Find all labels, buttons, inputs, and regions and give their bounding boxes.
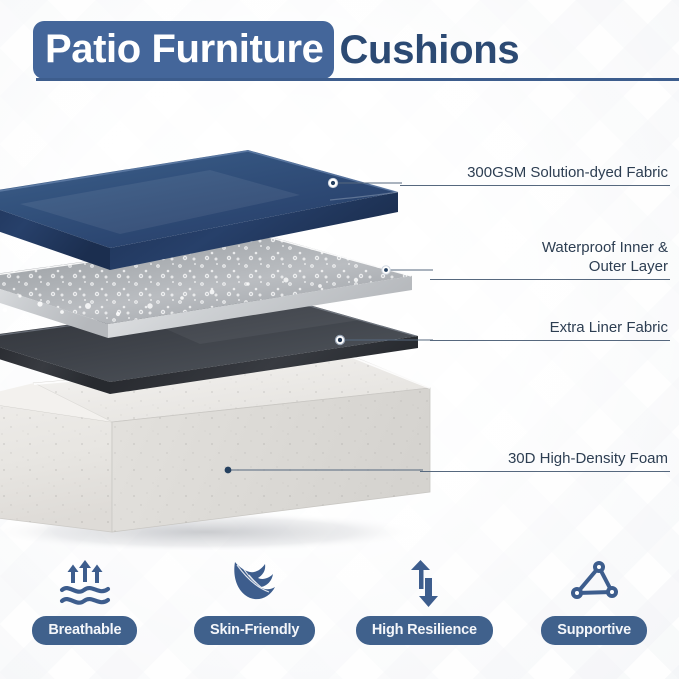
feature-breathable-label: Breathable bbox=[32, 616, 137, 645]
callout-waterproof-label: Waterproof Inner & Outer Layer bbox=[430, 238, 670, 276]
header: Patio Furniture Cushions bbox=[0, 0, 679, 92]
page-title: Patio Furniture Cushions bbox=[33, 21, 519, 79]
title-underline-rule bbox=[36, 78, 679, 81]
callout-liner-rule bbox=[430, 340, 670, 341]
feature-supportive-label: Supportive bbox=[541, 616, 647, 645]
feature-supportive: Supportive bbox=[509, 558, 679, 645]
feature-high-resilience-label: High Resilience bbox=[356, 616, 493, 645]
callout-fabric-rule bbox=[400, 185, 670, 186]
triangle-nodes-icon bbox=[568, 558, 620, 610]
feature-skin-friendly: Skin-Friendly bbox=[170, 558, 340, 645]
high-density-foam-block bbox=[0, 356, 430, 532]
callout-foam: 30D High-Density Foam bbox=[420, 449, 670, 472]
title-highlight-badge: Patio Furniture bbox=[33, 21, 334, 79]
callout-waterproof-rule bbox=[430, 279, 670, 280]
callout-foam-label: 30D High-Density Foam bbox=[420, 449, 670, 468]
callout-waterproof: Waterproof Inner & Outer Layer bbox=[430, 238, 670, 280]
title-rest-text: Cushions bbox=[334, 30, 519, 70]
solution-dyed-fabric-layer bbox=[0, 150, 398, 270]
feature-skin-friendly-label: Skin-Friendly bbox=[194, 616, 315, 645]
feature-high-resilience: High Resilience bbox=[340, 558, 510, 645]
up-down-arrows-icon bbox=[401, 558, 447, 610]
feather-icon bbox=[229, 558, 281, 610]
breathable-icon bbox=[57, 558, 113, 610]
callout-liner-label: Extra Liner Fabric bbox=[430, 318, 670, 337]
feature-badge-row: Breathable Skin-Friendly bbox=[0, 558, 679, 666]
callout-fabric: 300GSM Solution-dyed Fabric bbox=[400, 163, 670, 186]
product-infographic: Patio Furniture Cushions bbox=[0, 0, 679, 679]
callout-foam-rule bbox=[420, 471, 670, 472]
callout-liner: Extra Liner Fabric bbox=[430, 318, 670, 341]
feature-breathable: Breathable bbox=[0, 558, 170, 645]
cushion-layer-stack-illustration bbox=[0, 100, 460, 550]
callout-fabric-label: 300GSM Solution-dyed Fabric bbox=[400, 163, 670, 182]
